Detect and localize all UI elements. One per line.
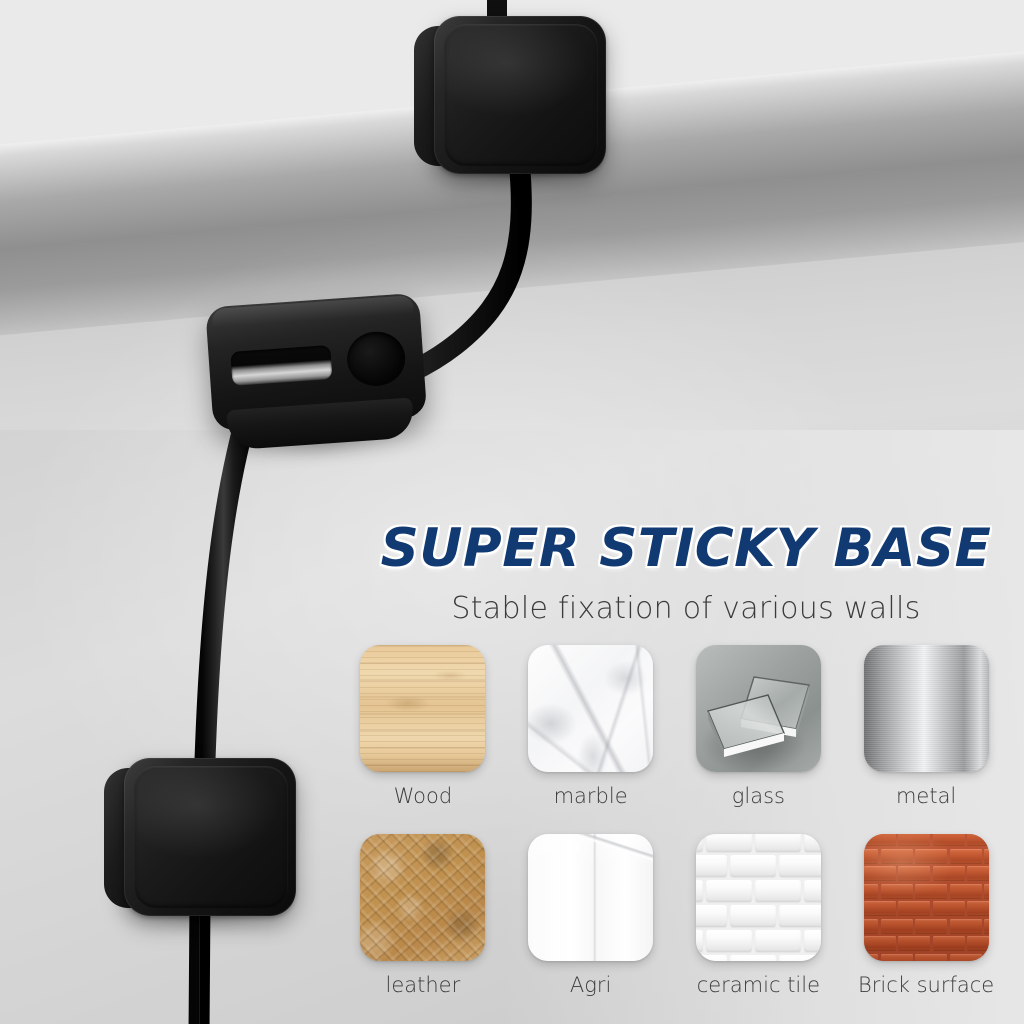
surface-item-wood: Wood [352, 645, 494, 808]
tile-unit [779, 955, 821, 961]
surface-label-marble: marble [554, 784, 628, 808]
clip-rim-top [434, 16, 606, 174]
swatch-marble [528, 645, 653, 772]
brick-sheen [864, 834, 989, 961]
tile-unit [696, 930, 703, 952]
cable-clip-top [414, 16, 606, 176]
swatch-agri [528, 834, 653, 961]
surface-item-metal: metal [855, 645, 997, 808]
swatch-glass [696, 645, 821, 772]
tile-unit [696, 955, 727, 961]
swatch-metal [864, 645, 989, 772]
tile-unit [730, 905, 776, 927]
tile-unit [730, 855, 776, 877]
surface-label-glass: glass [732, 784, 785, 808]
tile-row [696, 880, 812, 902]
glass-panes-icon [696, 645, 821, 772]
surface-label-agri: Agri [570, 973, 611, 997]
surface-swatch-grid: Wood marble [352, 645, 997, 997]
surface-item-brick-surface: Brick surface [855, 834, 997, 997]
cable-clip-middle [205, 293, 429, 454]
surface-item-leather: leather [352, 834, 494, 997]
tile-unit [804, 880, 821, 902]
tile-row [696, 905, 821, 927]
clip-cable-slot-middle [230, 345, 332, 386]
headline-block: SUPER STICKY BASE Stable fixation of var… [376, 522, 996, 626]
tile-unit [804, 834, 821, 852]
swatch-ceramic-tile [696, 834, 821, 961]
headline-title: SUPER STICKY BASE [376, 522, 996, 575]
tile-row [696, 834, 812, 852]
surface-label-leather: leather [386, 973, 461, 997]
tile-unit [755, 880, 801, 902]
tile-unit [706, 880, 752, 902]
surface-label-ceramic-tile: ceramic tile [697, 973, 820, 997]
tile-unit [779, 905, 821, 927]
clip-rim-bottom [124, 758, 296, 916]
product-marketing-image: SUPER STICKY BASE Stable fixation of var… [0, 0, 1024, 1024]
tile-unit [696, 855, 727, 877]
surface-item-ceramic-tile: ceramic tile [688, 834, 830, 997]
tile-unit [706, 930, 752, 952]
tile-row [696, 855, 821, 877]
tile-unit [779, 855, 821, 877]
tile-row [696, 930, 812, 952]
cable-clip-bottom [104, 758, 296, 918]
headline-subtitle: Stable fixation of various walls [376, 591, 996, 626]
tile-unit [755, 834, 801, 852]
swatch-brick-surface [864, 834, 989, 961]
tile-unit [696, 834, 703, 852]
swatch-leather [360, 834, 485, 961]
tile-unit [706, 834, 752, 852]
tile-unit [696, 880, 703, 902]
surface-item-agri: Agri [520, 834, 662, 997]
swatch-wood [360, 645, 485, 772]
tile-unit [696, 905, 727, 927]
tile-row [696, 955, 821, 961]
surface-label-metal: metal [896, 784, 956, 808]
tile-unit [755, 930, 801, 952]
tile-unit [730, 955, 776, 961]
surface-item-glass: glass [688, 645, 830, 808]
surface-label-wood: Wood [394, 784, 453, 808]
tile-unit [804, 930, 821, 952]
surface-item-marble: marble [520, 645, 662, 808]
surface-label-brick-surface: Brick surface [858, 973, 994, 997]
